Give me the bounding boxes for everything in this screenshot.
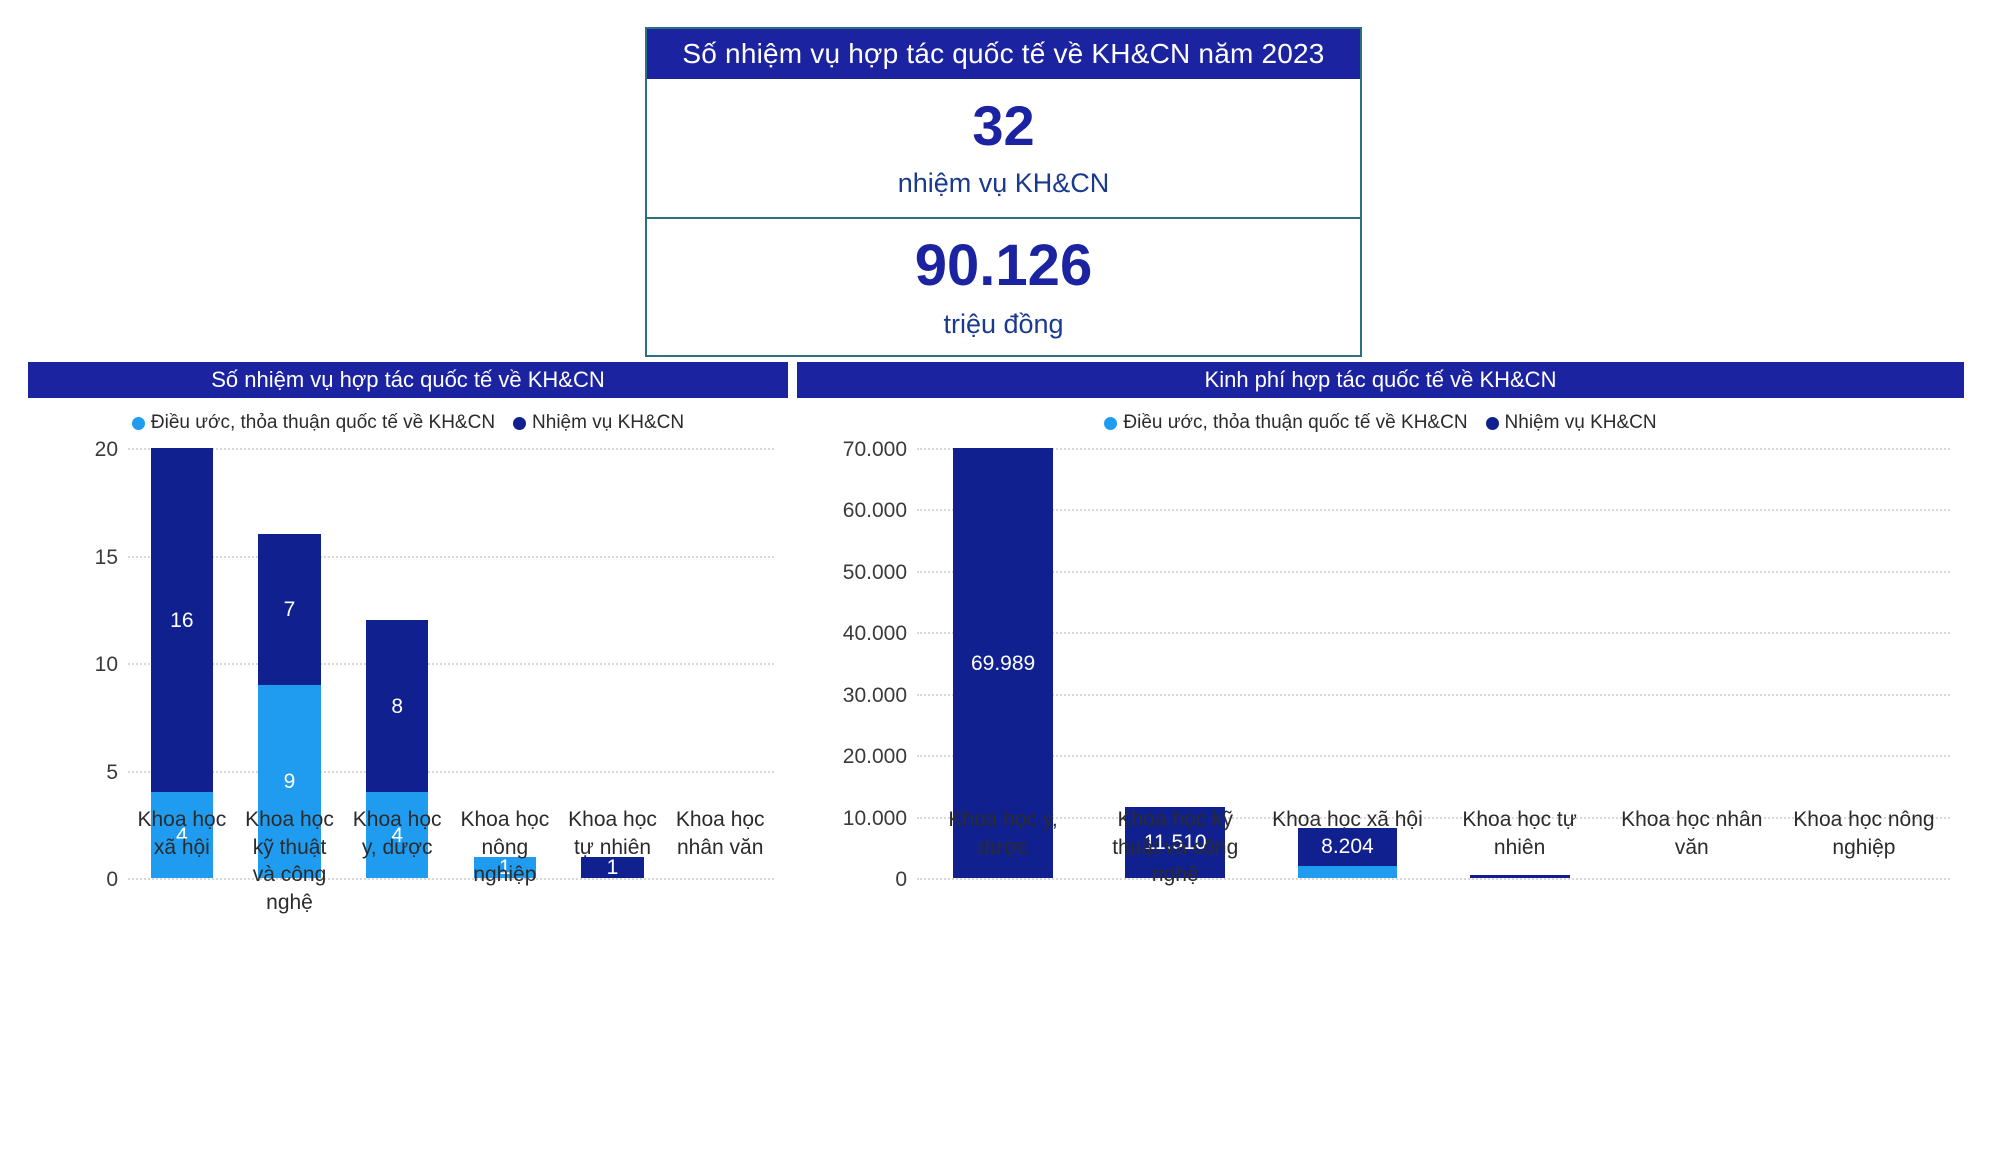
legend-swatch-light-icon	[1104, 417, 1117, 430]
bar-segment-nhiem-vu[interactable]: 16	[151, 448, 213, 792]
y-axis-tick: 20.000	[843, 745, 907, 769]
legend-swatch-dark-icon	[513, 417, 526, 430]
panel-so-nhiem-vu: Số nhiệm vụ hợp tác quốc tế về KH&CN Điề…	[28, 362, 788, 878]
x-axis-label: Khoa học tự nhiên	[559, 806, 667, 917]
x-axis-label: Khoa học kỹ thuật và công nghệ	[1089, 806, 1261, 889]
legend-item-dieu-uoc-right[interactable]: Điều ước, thỏa thuận quốc tế về KH&CN	[1104, 412, 1467, 434]
y-axis-tick: 0	[106, 868, 118, 892]
panel-title-kinh-phi: Kinh phí hợp tác quốc tế về KH&CN	[797, 362, 1964, 398]
panel-kinh-phi: Kinh phí hợp tác quốc tế về KH&CN Điều ư…	[797, 362, 1964, 878]
panel-title-so-nhiem-vu: Số nhiệm vụ hợp tác quốc tế về KH&CN	[28, 362, 788, 398]
legend-label-nhiem-vu-right: Nhiệm vụ KH&CN	[1505, 412, 1657, 434]
legend-so-nhiem-vu: Điều ước, thỏa thuận quốc tế về KH&CN Nh…	[28, 412, 788, 434]
legend-item-nhiem-vu-right[interactable]: Nhiệm vụ KH&CN	[1486, 412, 1657, 434]
x-axis-label: Khoa học kỹ thuật và công nghệ	[236, 806, 344, 917]
y-axis-tick: 60.000	[843, 499, 907, 523]
legend-label-dieu-uoc-right: Điều ước, thỏa thuận quốc tế về KH&CN	[1123, 412, 1467, 434]
y-axis-tick: 50.000	[843, 561, 907, 585]
kpi-block-tasks: 32 nhiệm vụ KH&CN	[647, 79, 1360, 217]
y-axis-tick: 5	[106, 761, 118, 785]
chart-xaxis-right: Khoa học y, dượcKhoa học kỹ thuật và côn…	[917, 806, 1950, 889]
bar-value-label: 69.989	[971, 653, 1035, 674]
chart-xaxis-left: Khoa học xã hộiKhoa học kỹ thuật và công…	[128, 806, 774, 917]
dashboard-page: Số nhiệm vụ hợp tác quốc tế về KH&CN năm…	[0, 0, 1992, 1152]
legend-item-nhiem-vu[interactable]: Nhiệm vụ KH&CN	[513, 412, 684, 434]
y-axis-tick: 0	[895, 868, 907, 892]
x-axis-label: Khoa học tự nhiên	[1434, 806, 1606, 889]
x-axis-label: Khoa học nông nghiệp	[1778, 806, 1950, 889]
bar-value-label: 16	[170, 610, 193, 631]
y-axis-tick: 20	[95, 438, 118, 462]
y-axis-tick: 15	[95, 546, 118, 570]
kpi-value-funding: 90.126	[915, 237, 1092, 295]
kpi-value-tasks: 32	[972, 98, 1034, 154]
legend-swatch-dark-icon	[1486, 417, 1499, 430]
bar-segment-nhiem-vu[interactable]: 7	[258, 534, 320, 685]
kpi-block-funding: 90.126 triệu đồng	[647, 219, 1360, 357]
bar-segment-nhiem-vu[interactable]: 8	[366, 620, 428, 792]
y-axis-tick: 70.000	[843, 438, 907, 462]
legend-item-dieu-uoc[interactable]: Điều ước, thỏa thuận quốc tế về KH&CN	[132, 412, 495, 434]
kpi-label-tasks: nhiệm vụ KH&CN	[898, 168, 1110, 199]
x-axis-label: Khoa học y, dược	[343, 806, 451, 917]
bar-value-label: 9	[284, 771, 296, 792]
y-axis-tick: 10.000	[843, 807, 907, 831]
legend-swatch-light-icon	[132, 417, 145, 430]
bar-value-label: 7	[284, 599, 296, 620]
x-axis-label: Khoa học nông nghiệp	[451, 806, 559, 917]
y-axis-tick: 40.000	[843, 622, 907, 646]
kpi-card-title: Số nhiệm vụ hợp tác quốc tế về KH&CN năm…	[647, 29, 1360, 79]
kpi-label-funding: triệu đồng	[943, 309, 1063, 340]
x-axis-label: Khoa học nhân văn	[666, 806, 774, 917]
y-axis-tick: 30.000	[843, 684, 907, 708]
x-axis-label: Khoa học y, dược	[917, 806, 1089, 889]
legend-label-dieu-uoc: Điều ước, thỏa thuận quốc tế về KH&CN	[151, 412, 495, 434]
kpi-card: Số nhiệm vụ hợp tác quốc tế về KH&CN năm…	[645, 27, 1362, 357]
legend-kinh-phi: Điều ước, thỏa thuận quốc tế về KH&CN Nh…	[797, 412, 1964, 434]
x-axis-label: Khoa học xã hội	[1261, 806, 1433, 889]
x-axis-label: Khoa học xã hội	[128, 806, 236, 917]
y-axis-tick: 10	[95, 653, 118, 677]
legend-label-nhiem-vu: Nhiệm vụ KH&CN	[532, 412, 684, 434]
bar-value-label: 8	[391, 696, 403, 717]
x-axis-label: Khoa học nhân văn	[1606, 806, 1778, 889]
